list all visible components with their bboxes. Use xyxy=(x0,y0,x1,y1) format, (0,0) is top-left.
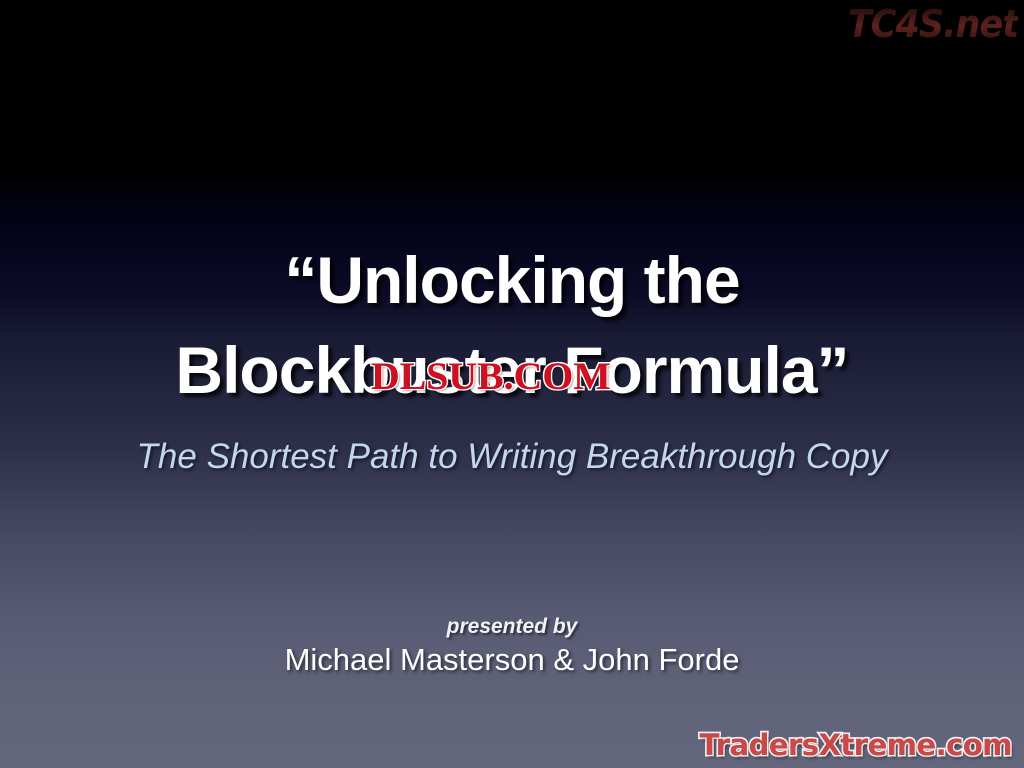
watermark-tradersxtreme-fill: TradersXtreme.com xyxy=(700,728,1012,762)
watermark-dlsub-fill: DLSUB.COM xyxy=(371,357,611,397)
slide-subtitle: The Shortest Path to Writing Breakthroug… xyxy=(0,435,1024,479)
watermark-tradersxtreme: TradersXtreme.comTradersXtreme.com xyxy=(700,728,1012,762)
presented-by-label: presented by xyxy=(0,613,1024,640)
presenter-names: Michael Masterson & John Forde xyxy=(0,640,1024,680)
watermark-dlsub: DLSUB.COMDLSUB.COM xyxy=(371,357,611,397)
watermark-tc4s: TC4S.net xyxy=(848,2,1018,46)
presentation-slide: TC4S.net “Unlocking the Blockbuster Form… xyxy=(0,0,1024,768)
slide-title-line-1: “Unlocking the xyxy=(0,235,1024,325)
presenter-block: presented by Michael Masterson & John Fo… xyxy=(0,613,1024,680)
